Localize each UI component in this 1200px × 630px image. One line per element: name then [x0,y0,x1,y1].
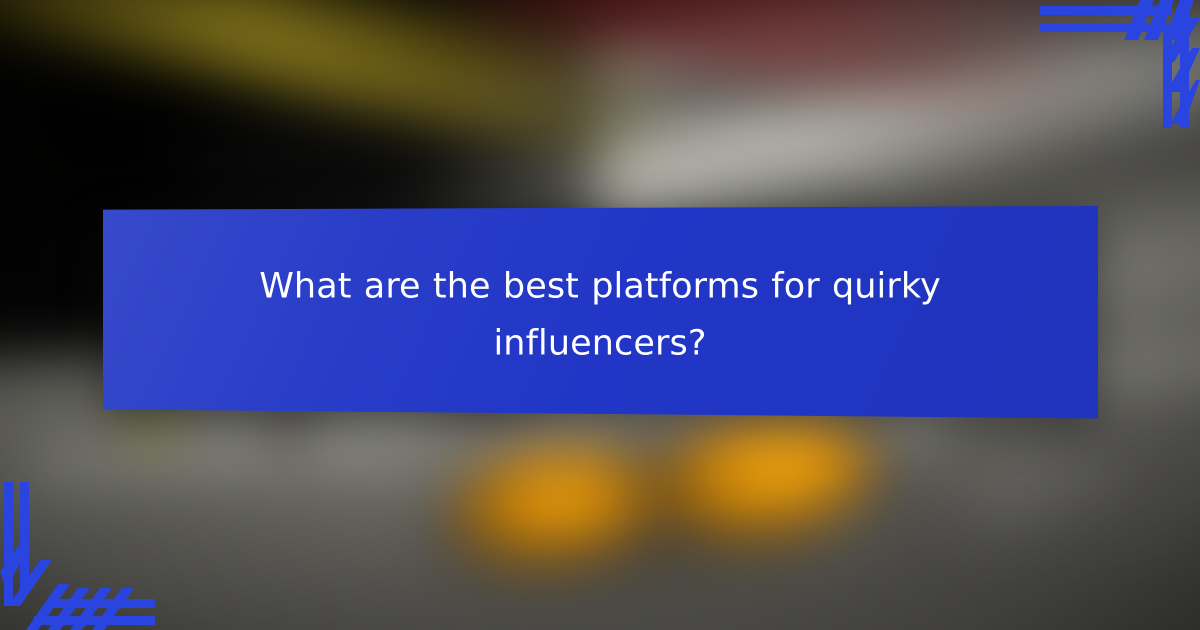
screenshot-stage: What are the best platforms for quirky i… [0,0,1200,630]
question-card: What are the best platforms for quirky i… [100,200,1100,430]
question-text: What are the best platforms for quirky i… [100,258,1100,371]
